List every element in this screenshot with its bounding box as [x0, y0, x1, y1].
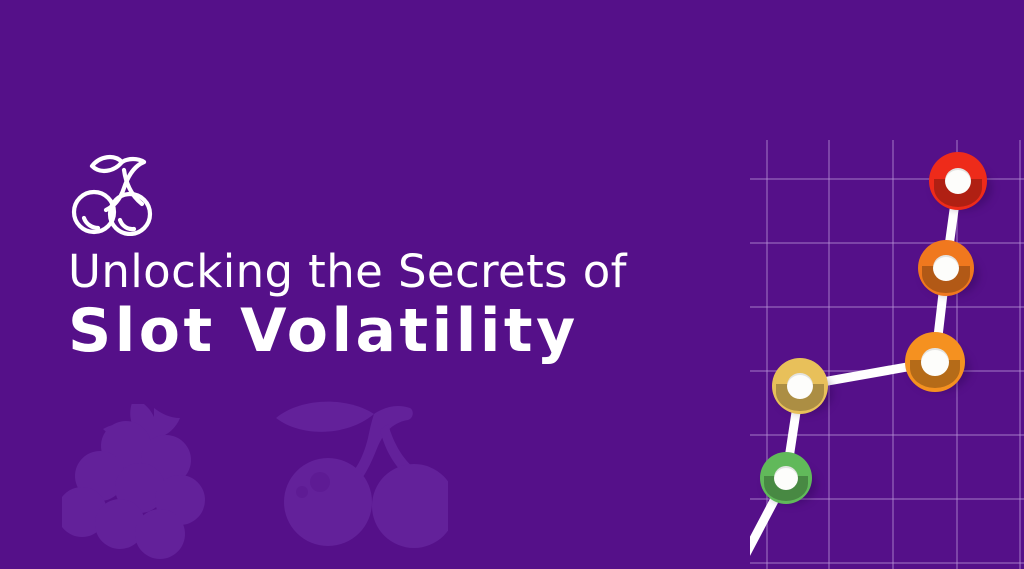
cherries-watermark-icon: [268, 400, 448, 550]
point-low-center: [774, 466, 798, 490]
point-medium-high[interactable]: [918, 240, 974, 296]
point-high[interactable]: [929, 152, 987, 210]
volatility-line-chart: [750, 140, 1024, 569]
cherries-outline-icon: [68, 150, 160, 236]
grapes-watermark-icon: [62, 404, 222, 564]
point-low[interactable]: [760, 452, 812, 504]
headline-block: Unlocking the Secrets of Slot Volatility: [68, 150, 768, 364]
point-medium[interactable]: [905, 332, 965, 392]
chart-series-line: [750, 140, 1024, 569]
slot-volatility-banner: Unlocking the Secrets of Slot Volatility: [0, 0, 1024, 569]
point-medium-center: [921, 348, 949, 376]
point-low-medium[interactable]: [772, 358, 828, 414]
headline-line-1: Unlocking the Secrets of: [68, 246, 768, 298]
point-low-medium-center: [787, 373, 813, 399]
point-medium-high-center: [933, 255, 959, 281]
headline-line-2: Slot Volatility: [68, 298, 768, 364]
